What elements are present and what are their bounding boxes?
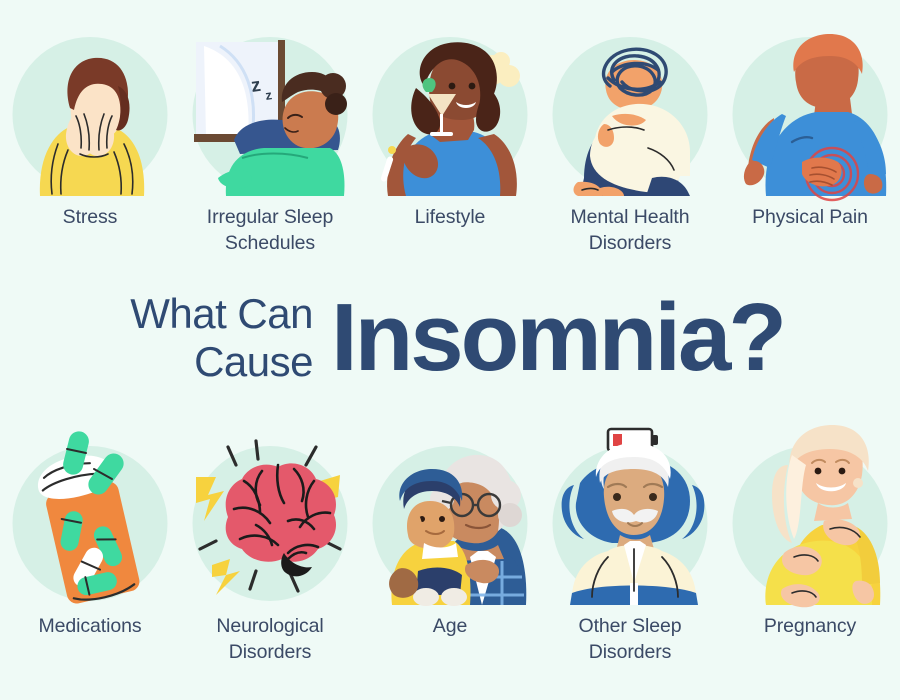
cause-label-line1: Mental Health [570,206,689,228]
cause-label-line2: Disorders [589,641,672,663]
cause-label: Neurological Disorders [181,613,359,665]
cause-label: Other Sleep Disorders [541,613,719,665]
pregnancy-illustration-wrap [730,425,890,605]
title-main-word: Insomnia? [331,288,784,388]
cause-item-irregular-sleep-schedules: z z [180,28,360,258]
causes-row-bottom: Medications [0,425,900,680]
stress-illustration-wrap [10,28,170,196]
medications-illustration-wrap [10,425,170,605]
cause-item-pregnancy: Pregnancy [720,425,900,680]
cause-label: Medications [1,613,179,639]
title-subheading: What Can Cause [116,290,331,386]
cause-item-physical-pain: Physical Pain [720,28,900,258]
cause-label-line1: Other Sleep [579,615,682,637]
brain-lightning-icon [190,425,350,605]
cause-item-age: Age [360,425,540,680]
title-block: What Can Cause Insomnia? [0,278,900,398]
cause-label-line1: Neurological [216,615,323,637]
cause-label-line1: Medications [39,615,142,637]
cause-label-line2: Schedules [225,232,315,254]
age-illustration-wrap [370,425,530,605]
elderly-man-awake-battery-icon [550,425,710,605]
person-covering-face-icon [10,28,170,196]
cause-label: Physical Pain [721,204,899,230]
title-line2: Cause [116,338,313,386]
cause-item-medications: Medications [0,425,180,680]
cause-label-line1: Physical Pain [752,206,868,228]
cause-label-line2: Disorders [229,641,312,663]
lifestyle-illustration-wrap [370,28,530,196]
person-sleeping-by-window-icon: z z [190,28,350,196]
cause-label-line1: Lifestyle [415,206,486,228]
cause-label-line1: Irregular Sleep [207,206,333,228]
man-back-pain-icon [730,28,890,196]
person-curled-up-scribble-icon [550,28,710,196]
physical-pain-illustration-wrap [730,28,890,196]
causes-row-top: Stress z z [0,28,900,258]
cause-label-line1: Pregnancy [764,615,856,637]
cause-label: Lifestyle [361,204,539,230]
cause-item-neurological-disorders: Neurological Disorders [180,425,360,680]
cause-label: Age [361,613,539,639]
cause-label-line1: Age [433,615,467,637]
irregular-sleep-illustration-wrap: z z [190,28,350,196]
title-line1: What Can [116,290,313,338]
woman-cocktail-cigarette-icon [370,28,530,196]
insomnia-causes-infographic: Stress z z [0,0,900,700]
cause-label: Mental Health Disorders [541,204,719,256]
neurological-illustration-wrap [190,425,350,605]
cause-label: Pregnancy [721,613,899,639]
pregnant-woman-icon [730,425,890,605]
mental-health-illustration-wrap [550,28,710,196]
cause-label: Irregular Sleep Schedules [181,204,359,256]
cause-item-lifestyle: Lifestyle [360,28,540,258]
cause-item-mental-health-disorders: Mental Health Disorders [540,28,720,258]
cause-label: Stress [1,204,179,230]
cause-label-line1: Stress [63,206,118,228]
cause-label-line2: Disorders [589,232,672,254]
other-sleep-illustration-wrap [550,425,710,605]
pill-bottle-icon [10,425,170,605]
cause-item-stress: Stress [0,28,180,258]
grandmother-child-icon [370,425,530,605]
cause-item-other-sleep-disorders: Other Sleep Disorders [540,425,720,680]
